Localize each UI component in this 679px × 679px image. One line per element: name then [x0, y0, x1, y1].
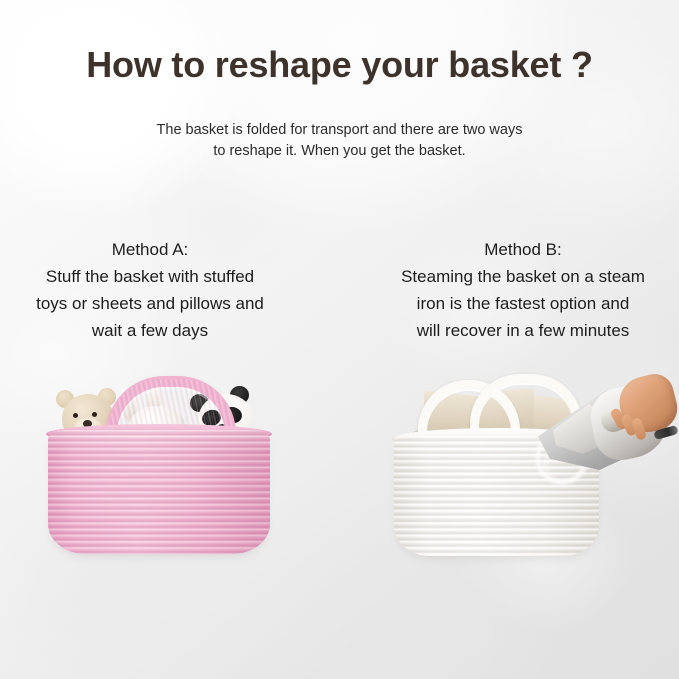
- page-subtitle: The basket is folded for transport and t…: [0, 120, 679, 162]
- pink-basket-body: [48, 430, 270, 554]
- method-b-line-1: Steaming the basket on a steam: [368, 263, 678, 290]
- infographic-page: How to reshape your basket ? The basket …: [0, 0, 679, 679]
- method-a-line-3: wait a few days: [0, 317, 305, 344]
- method-b-line-2: iron is the fastest option and: [368, 290, 678, 317]
- pink-rope-basket-illustration: [40, 368, 280, 558]
- method-a-line-2: toys or sheets and pillows and: [0, 290, 305, 317]
- subtitle-line-2: to reshape it. When you get the basket.: [0, 141, 679, 162]
- method-b-text: Method B: Steaming the basket on a steam…: [368, 236, 678, 344]
- page-title: How to reshape your basket ?: [0, 44, 679, 86]
- method-a-line-1: Stuff the basket with stuffed: [0, 263, 305, 290]
- method-b-heading: Method B:: [368, 236, 678, 263]
- method-a-text: Method A: Stuff the basket with stuffed …: [0, 236, 305, 344]
- subtitle-line-1: The basket is folded for transport and t…: [0, 120, 679, 141]
- steam-iron-icon: [534, 368, 679, 490]
- method-b-line-3: will recover in a few minutes: [368, 317, 678, 344]
- pink-basket-rope-coils: [48, 430, 270, 554]
- teddy-eye-right: [92, 412, 97, 417]
- teddy-eye-left: [73, 413, 78, 418]
- method-a-heading: Method A:: [0, 236, 305, 263]
